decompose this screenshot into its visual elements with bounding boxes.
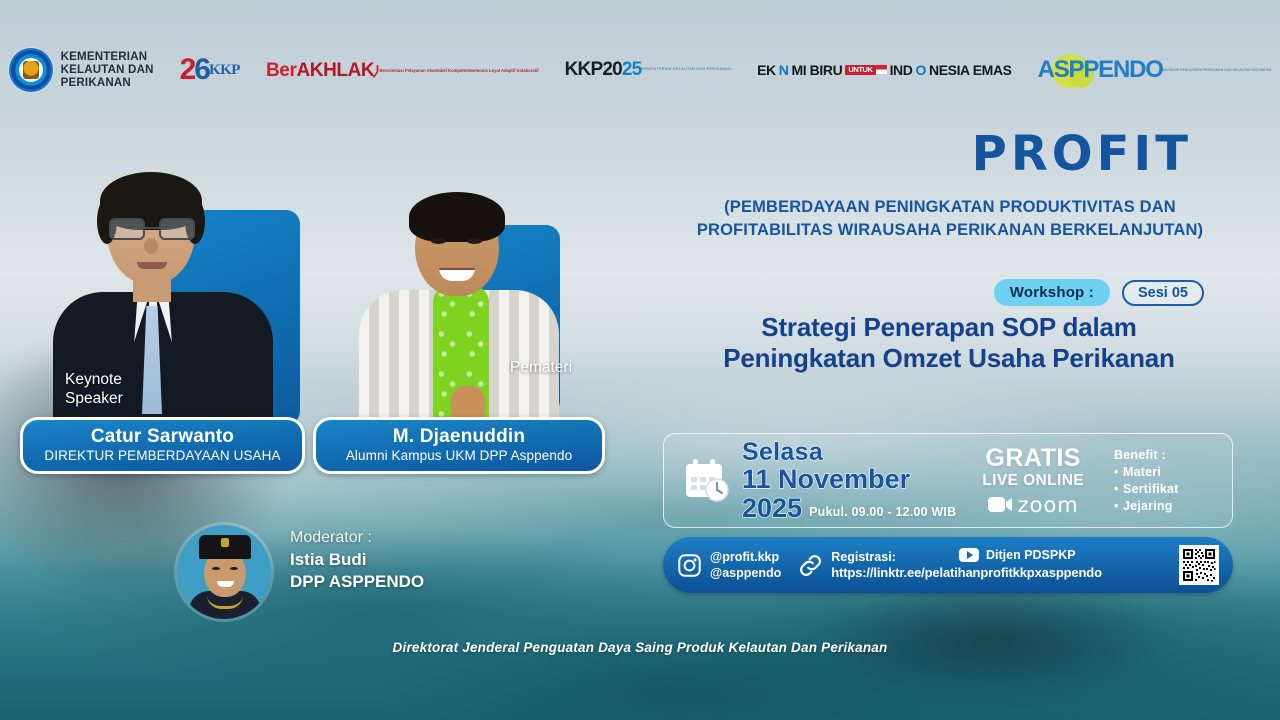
anniversary-label: KKP: [209, 63, 240, 78]
event-date-block: Selasa 11 November 2025 Pukul. 09.00 - 1…: [742, 439, 956, 522]
berakhlak-logo: BerAKHLAK⟩ Berorientasi Pelayanan Akunta…: [266, 61, 539, 80]
registration-url[interactable]: https://linktr.ee/pelatihanprofitkkpxasp…: [831, 565, 1102, 581]
benefit-title: Benefit :: [1114, 447, 1179, 464]
event-day: Selasa: [742, 439, 956, 465]
event-live-label: LIVE ONLINE: [982, 471, 1084, 490]
benefit-item: Jejaring: [1114, 498, 1179, 515]
berakhlak-wordmark: BerAKHLAK⟩: [266, 61, 379, 80]
speaker-1-name: Catur Sarwanto: [33, 425, 292, 448]
workshop-title-line-2: Peningkatan Omzet Usaha Perikanan: [645, 343, 1253, 374]
instagram-block[interactable]: @profit.kkp @asppendo: [677, 549, 781, 581]
event-access-block: GRATIS LIVE ONLINE zoom: [982, 445, 1084, 517]
speaker-2-photo: [355, 190, 560, 425]
ekonomi-biru-line-1: EKNMI BIRU UNTUK: [757, 63, 876, 77]
benefit-item: Sertifikat: [1114, 481, 1179, 498]
ekonomi-biru-logo: EKNMI BIRU UNTUK INDONESIA EMAS: [757, 63, 1012, 77]
asppendo-subtext: ASOSIASI PENGUSAHA PERIKANAN DAN KELAUTA…: [1163, 69, 1272, 72]
zoom-wordmark: zoom: [1018, 493, 1079, 517]
instagram-handle-1[interactable]: @profit.kkp: [710, 549, 781, 565]
moderator-org: DPP ASPPENDO: [290, 571, 424, 593]
workshop-badge: Workshop :: [994, 279, 1110, 306]
program-subtitle-line-1: (PEMBERDAYAAN PENINGKATAN PRODUKTIVITAS …: [650, 196, 1250, 219]
session-badge: Sesi 05: [1122, 280, 1204, 306]
instagram-icon: [677, 553, 702, 578]
ministry-line-3: PERIKANAN: [61, 77, 154, 90]
ministry-line-1: KEMENTERIAN: [61, 51, 154, 64]
anniversary-logo: 26 KKP: [180, 55, 240, 85]
event-info-box: Selasa 11 November 2025 Pukul. 09.00 - 1…: [663, 433, 1233, 528]
logo-bar: KEMENTERIAN KELAUTAN DAN PERIKANAN 26 KK…: [0, 36, 1280, 104]
program-title: PROFIT: [972, 128, 1192, 180]
youtube-block[interactable]: Ditjen PDSPKP: [959, 548, 1076, 562]
speaker-1-title: DIREKTUR PEMBERDAYAAN USAHA: [33, 448, 292, 464]
untuk-tag: UNTUK: [845, 65, 875, 75]
kkp2025-line-2: 2025: [602, 61, 641, 78]
moderator-label: Moderator :: [290, 527, 424, 549]
moderator-name: Istia Budi: [290, 549, 424, 571]
speaker-1-role-tag: Keynote Speaker: [65, 370, 123, 408]
kkp2025-line-3: KEMENTERIAN KELAUTAN DAN PERIKANAN: [641, 68, 731, 71]
speaker-2-role-line-1: Pemateri: [510, 358, 572, 377]
speaker-2-role-tag: Pemateri: [510, 358, 572, 377]
kkp-ministry-logo: KEMENTERIAN KELAUTAN DAN PERIKANAN: [9, 48, 154, 92]
youtube-channel[interactable]: Ditjen PDSPKP: [986, 548, 1076, 562]
ekonomi-biru-line-2: INDONESIA EMAS: [876, 63, 1012, 77]
video-camera-icon: [988, 496, 1012, 513]
berakhlak-tagline-1: Berorientasi Pelayanan Akuntabel Kompete…: [379, 68, 468, 74]
event-time: Pukul. 09.00 - 12.00 WIB: [809, 505, 956, 522]
instagram-handle-2[interactable]: @asppendo: [710, 565, 781, 581]
event-date: 11 November: [742, 465, 956, 494]
speaker-2-name: M. Djaenuddin: [326, 425, 592, 448]
zoom-platform: zoom: [982, 493, 1084, 517]
workshop-title: Strategi Penerapan SOP dalam Peningkatan…: [645, 312, 1253, 374]
garuda-emblem-icon: [9, 48, 53, 92]
kkp-ministry-text: KEMENTERIAN KELAUTAN DAN PERIKANAN: [61, 51, 154, 90]
calendar-clock-icon: [676, 456, 738, 506]
anniversary-number: 26: [180, 55, 209, 85]
indonesia-flag-icon: [876, 65, 887, 74]
poster-canvas: KEMENTERIAN KELAUTAN DAN PERIKANAN 26 KK…: [0, 0, 1280, 720]
badge-row: Workshop : Sesi 05: [994, 279, 1204, 306]
speaker-2-nameplate: M. Djaenuddin Alumni Kampus UKM DPP Aspp…: [313, 417, 605, 474]
benefit-list: Benefit : Materi Sertifikat Jejaring: [1114, 447, 1179, 515]
youtube-icon: [959, 548, 979, 562]
qr-code[interactable]: [1179, 545, 1219, 585]
speaker-2-title: Alumni Kampus UKM DPP Asppendo: [326, 448, 592, 464]
speaker-1-role-line-1: Keynote: [65, 370, 123, 389]
program-subtitle: (PEMBERDAYAAN PENINGKATAN PRODUKTIVITAS …: [650, 196, 1250, 242]
ministry-line-2: KELAUTAN DAN: [61, 64, 154, 77]
moderator-avatar: [177, 525, 271, 619]
berakhlak-tagline-2: Harmonis Loyal Adaptif Kolaboratif: [469, 68, 539, 74]
benefit-item: Materi: [1114, 464, 1179, 481]
speaker-1-nameplate: Catur Sarwanto DIREKTUR PEMBERDAYAAN USA…: [20, 417, 305, 474]
asppendo-wordmark: ASPPENDO: [1038, 58, 1163, 82]
registration-bar: @profit.kkp @asppendo Registrasi: https:…: [663, 537, 1233, 593]
moderator-info: Moderator : Istia Budi DPP ASPPENDO: [290, 527, 424, 593]
workshop-title-line-1: Strategi Penerapan SOP dalam: [645, 312, 1253, 343]
footer-text: Direktorat Jenderal Penguatan Daya Saing…: [0, 640, 1280, 655]
event-free-label: GRATIS: [982, 445, 1084, 471]
program-subtitle-line-2: PROFITABILITAS WIRAUSAHA PERIKANAN BERKE…: [650, 219, 1250, 242]
link-chain-icon: [797, 552, 824, 579]
asppendo-logo: ASPPENDO ASOSIASI PENGUSAHA PERIKANAN DA…: [1038, 58, 1272, 82]
speaker-1-role-line-2: Speaker: [65, 389, 123, 408]
event-year: 2025: [742, 494, 802, 522]
kkp-2025-logo: KKP 2025 KEMENTERIAN KELAUTAN DAN PERIKA…: [565, 61, 731, 78]
kkp2025-line-1: KKP: [565, 61, 603, 78]
